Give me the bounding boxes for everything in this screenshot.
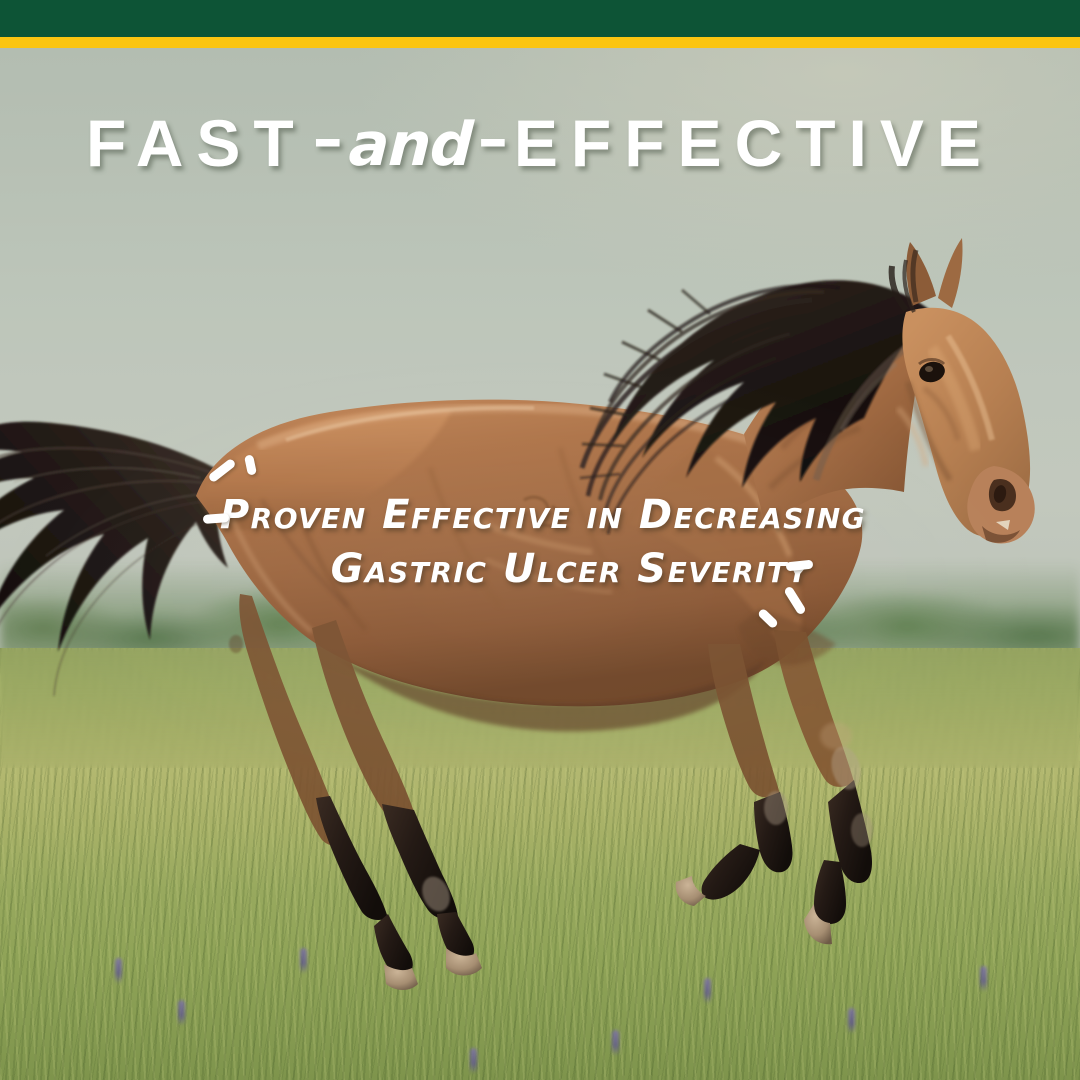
horse-head — [892, 238, 1035, 544]
headline-connector-and: and — [347, 110, 474, 180]
brand-band-yellow — [0, 37, 1080, 48]
headline: FAST–and–EFFECTIVE — [0, 105, 1080, 181]
poster-canvas: FAST–and–EFFECTIVE Proven Effective in D… — [0, 0, 1080, 1080]
headline-dash-right: – — [478, 104, 508, 174]
tick-left-dash — [203, 513, 230, 524]
headline-word-effective: EFFECTIVE — [514, 105, 994, 181]
horse-leg-front-right — [774, 630, 873, 944]
hero-photo — [0, 48, 1080, 1080]
headline-dash-left: – — [313, 104, 343, 174]
horse-illustration — [0, 48, 1080, 1080]
horse-tail — [0, 422, 228, 696]
headline-word-fast: FAST — [86, 105, 307, 181]
brand-band-green — [0, 0, 1080, 37]
